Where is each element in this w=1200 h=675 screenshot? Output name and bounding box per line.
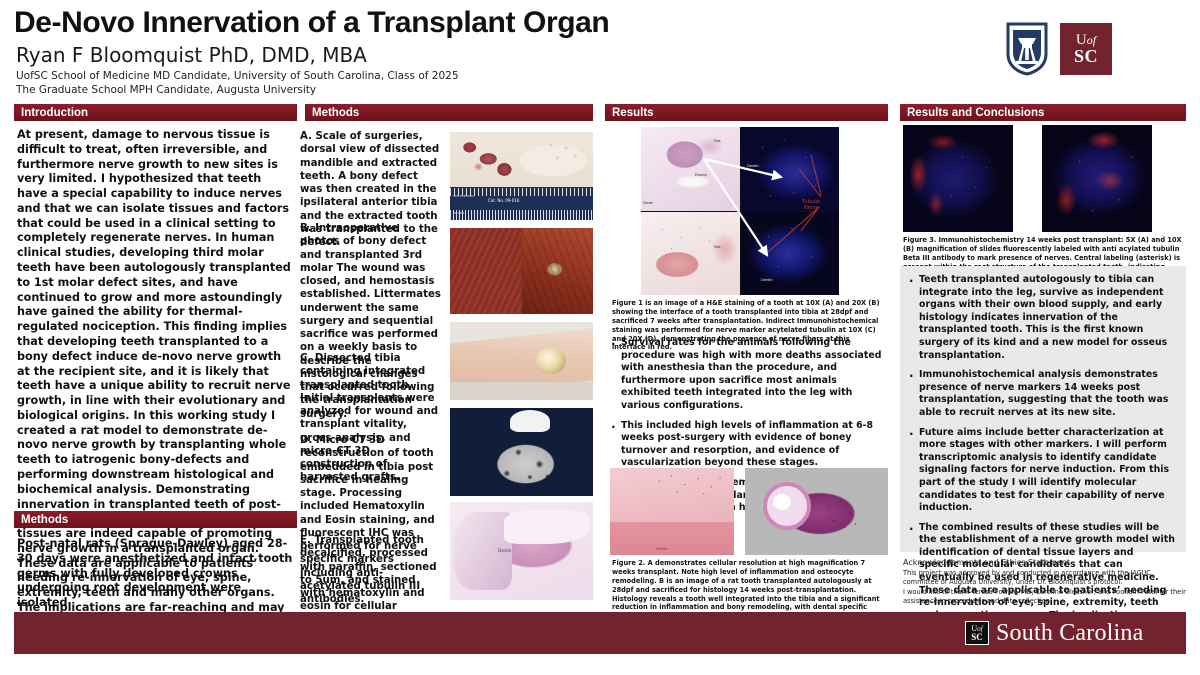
south-carolina-footer-logo: Uof SC South Carolina [965, 621, 1143, 645]
footer-wordmark: South Carolina [996, 620, 1143, 647]
augusta-university-shield-icon [1006, 22, 1048, 76]
conclusion-bullet-3: Future aims include better characterizat… [908, 427, 1176, 515]
conclusions-panel: Teeth transplanted autologously to tibia… [900, 266, 1186, 552]
figure-2b-whole-tooth-in-tibia-histology [745, 468, 888, 555]
conclusion-bullet-1: Teeth transplanted autologously to tibia… [908, 274, 1176, 362]
section-heading-introduction: Introduction [14, 104, 297, 121]
poster-header: De-Novo Innervation of a Transplant Orga… [0, 0, 1200, 100]
he-stained-section-image: Dentin [450, 502, 593, 600]
intraoperative-bony-defect-photo [450, 228, 593, 314]
uofsc-logo-sc: SC [1074, 48, 1098, 65]
figure-3b-ihc-10x-fluorescence [1042, 125, 1152, 232]
figure-1-he-and-ihc-panel: Enamel Tibia Dentin Tibia Dentin Dentin … [641, 127, 839, 295]
acknowledgements-body: This project was approved by and conduct… [903, 569, 1186, 606]
affiliation-line-1: UofSC School of Medicine MD Candidate, U… [16, 70, 459, 82]
affiliation-line-2: The Graduate School MPH Candidate, Augus… [16, 84, 316, 96]
author-name: Ryan F Bloomquist PhD, DMD, MBA [16, 43, 367, 67]
uofsc-footer-mark-icon: Uof SC [965, 621, 989, 645]
results-bullet-2: This included high levels of inflammatio… [610, 420, 888, 470]
section-heading-methods-left: Methods [14, 511, 297, 528]
poster-canvas: De-Novo Innervation of a Transplant Orga… [0, 0, 1200, 675]
conclusion-bullet-2: Immunohistochemical analysis demonstrate… [908, 369, 1176, 419]
figure-3a-ihc-5x-fluorescence [903, 125, 1013, 232]
results-bullet-1: Survival rates for the animals following… [610, 337, 888, 413]
section-heading-methods: Methods [305, 104, 593, 121]
page-title: De-Novo Innervation of a Transplant Orga… [14, 6, 609, 40]
dissected-tibia-gross-photo [450, 322, 593, 400]
dissected-mandible-with-ruler-photo: Cat. No. 09-016 CENTIMETERS INCHES [450, 132, 593, 220]
acknowledgements-title: Acknowledgements and Ethics Statement [903, 558, 1186, 567]
section-heading-results-and-conclusions: Results and Conclusions [900, 104, 1186, 121]
uofsc-block-logo: Uof SC [1060, 23, 1112, 75]
figure-2a-high-magnification-histology: Dentin [610, 468, 734, 555]
micro-ct-3d-reconstruction-image [450, 408, 593, 496]
footer-logo-sc: SC [971, 633, 983, 641]
methods-summary-text: Post-natal rats (Sprague-Dawley) aged 28… [17, 537, 295, 611]
section-heading-results: Results [605, 104, 888, 121]
